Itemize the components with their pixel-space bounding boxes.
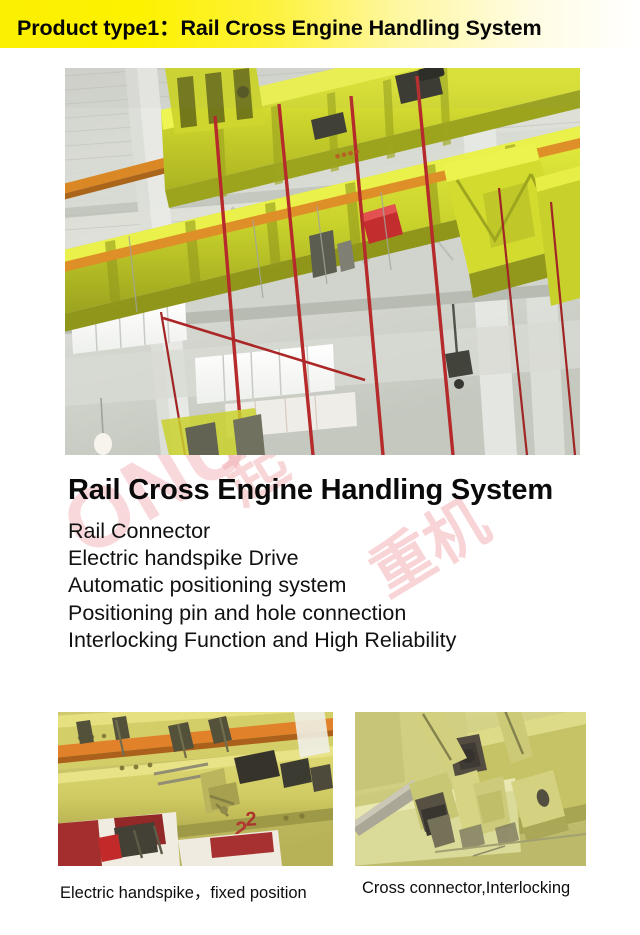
- feature-item: Interlocking Function and High Reliabili…: [68, 627, 608, 654]
- product-title: Rail Cross Engine Handling System: [68, 474, 553, 507]
- thumbnail-electric-handspike: 2 2: [58, 712, 333, 866]
- feature-item: Automatic positioning system: [68, 572, 608, 599]
- feature-item: Electric handspike Drive: [68, 545, 608, 572]
- thumbnail-cross-connector: [355, 712, 586, 866]
- feature-item: Positioning pin and hole connection: [68, 600, 608, 627]
- thumbnail-caption-right: Cross connector,Interlocking: [362, 879, 570, 898]
- thumbnail-caption-left: Electric handspike，fixed position: [60, 879, 307, 903]
- page-title: Product type1：Rail Cross Engine Handling…: [17, 11, 542, 42]
- feature-item: Rail Connector: [68, 518, 608, 545]
- main-product-photo: ●●●●: [65, 68, 580, 455]
- feature-list: Rail Connector Electric handspike Drive …: [68, 518, 608, 654]
